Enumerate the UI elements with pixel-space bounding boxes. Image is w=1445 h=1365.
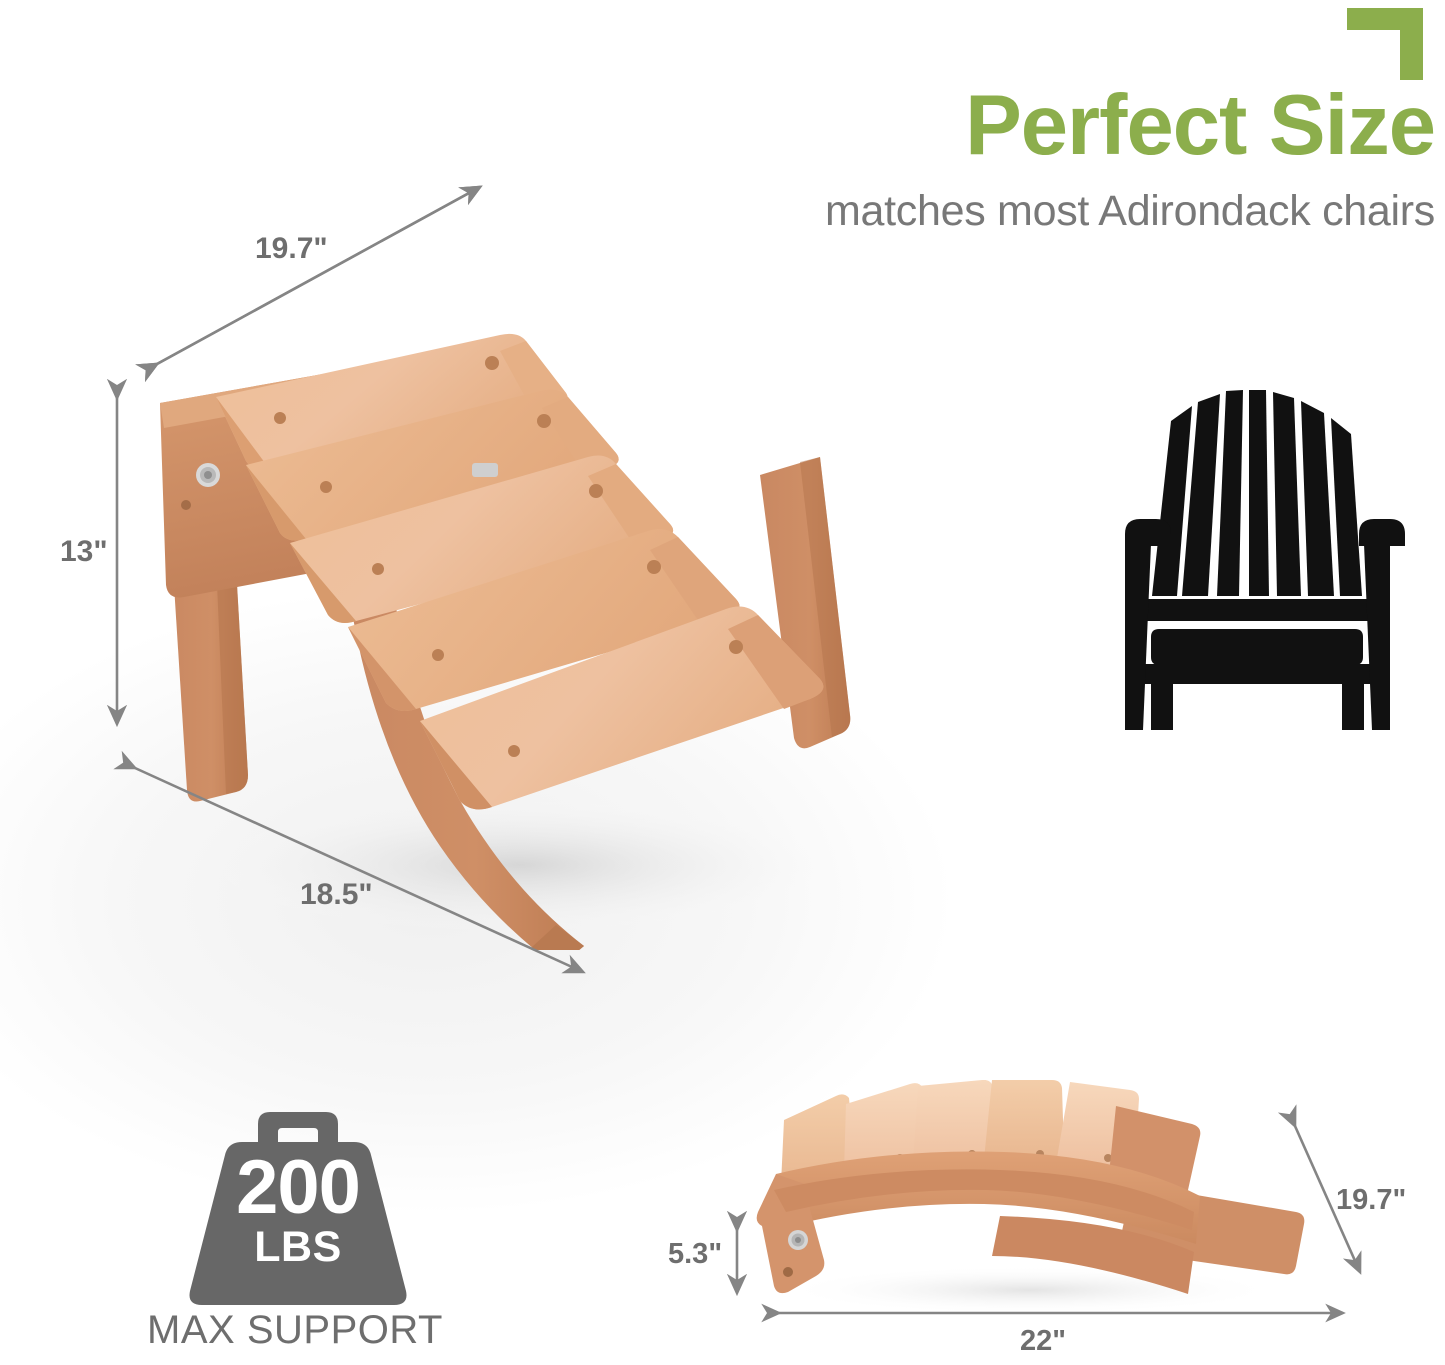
dimension-label-folded-depth: 19.7" bbox=[1336, 1184, 1406, 1217]
infographic-canvas: Perfect Size matches most Adirondack cha… bbox=[0, 0, 1445, 1365]
max-support-number: 200 bbox=[178, 1150, 418, 1226]
unfolded-ottoman-product-photo bbox=[120, 175, 920, 950]
adirondack-chair-silhouette-icon bbox=[1085, 368, 1430, 753]
max-support-caption: MAX SUPPORT bbox=[145, 1308, 445, 1353]
dimension-label-depth-front: 18.5" bbox=[300, 878, 373, 912]
corner-bracket-icon bbox=[1347, 8, 1423, 80]
dimension-label-width-top: 19.7" bbox=[255, 232, 328, 266]
page-title: Perfect Size bbox=[690, 78, 1435, 174]
dimension-label-folded-width: 22" bbox=[1020, 1325, 1066, 1358]
dimension-label-height-side: 13" bbox=[60, 535, 108, 569]
folded-ottoman-product-photo bbox=[740, 1080, 1340, 1310]
max-support-unit: LBS bbox=[178, 1226, 418, 1269]
max-support-badge: 200 LBS MAX SUPPORT bbox=[150, 1112, 470, 1362]
dimension-label-folded-thickness: 5.3" bbox=[668, 1238, 722, 1271]
